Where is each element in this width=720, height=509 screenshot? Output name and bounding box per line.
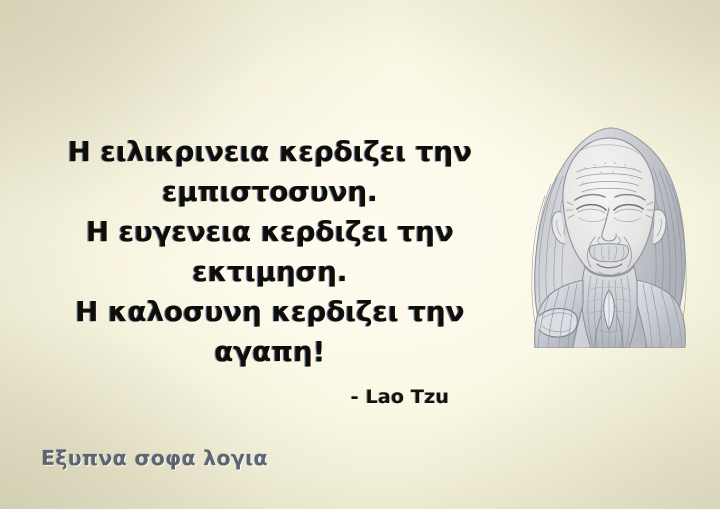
quote-line: Η ευγενεια κερδιζει την [46, 212, 494, 252]
quote-poster: Η ειλικρινεια κερδιζει την εμπιστοσυνη. … [0, 0, 720, 509]
quote-line: Η ειλικρινεια κερδιζει την [46, 132, 494, 172]
lao-tzu-sketch-illustration [487, 104, 709, 348]
quote-line: εμπιστοσυνη. [46, 172, 494, 212]
quote-line: εκτιμηση. [46, 252, 494, 292]
quote-line: αγαπη! [46, 332, 494, 372]
quote-text-block: Η ειλικρινεια κερδιζει την εμπιστοσυνη. … [46, 132, 494, 372]
footer-brand-watermark: Εξυπνα σοφα λογια [41, 446, 268, 470]
quote-attribution: - Lao Tzu [300, 386, 500, 408]
quote-line: Η καλοσυνη κερδιζει την [46, 292, 494, 332]
